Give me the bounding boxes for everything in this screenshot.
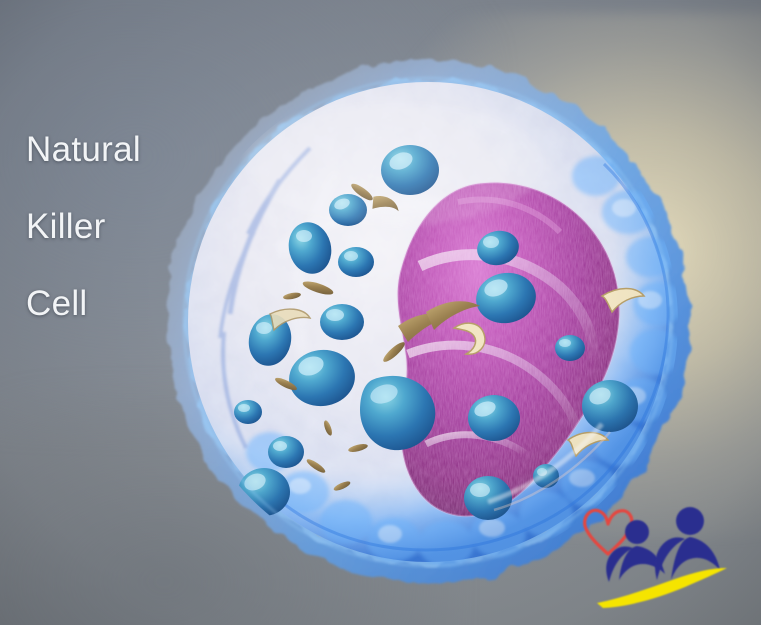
swoosh-icon (597, 568, 727, 608)
organization-logo (575, 500, 750, 615)
caption-line-natural: Natural (26, 132, 236, 167)
caption-line-cell: Cell (26, 286, 236, 321)
figure-icon-right (655, 507, 720, 580)
caption-block: Natural Killer Cell (26, 132, 236, 321)
screenshot-canvas: Natural Killer Cell (0, 0, 761, 625)
caption-line-killer: Killer (26, 209, 236, 244)
